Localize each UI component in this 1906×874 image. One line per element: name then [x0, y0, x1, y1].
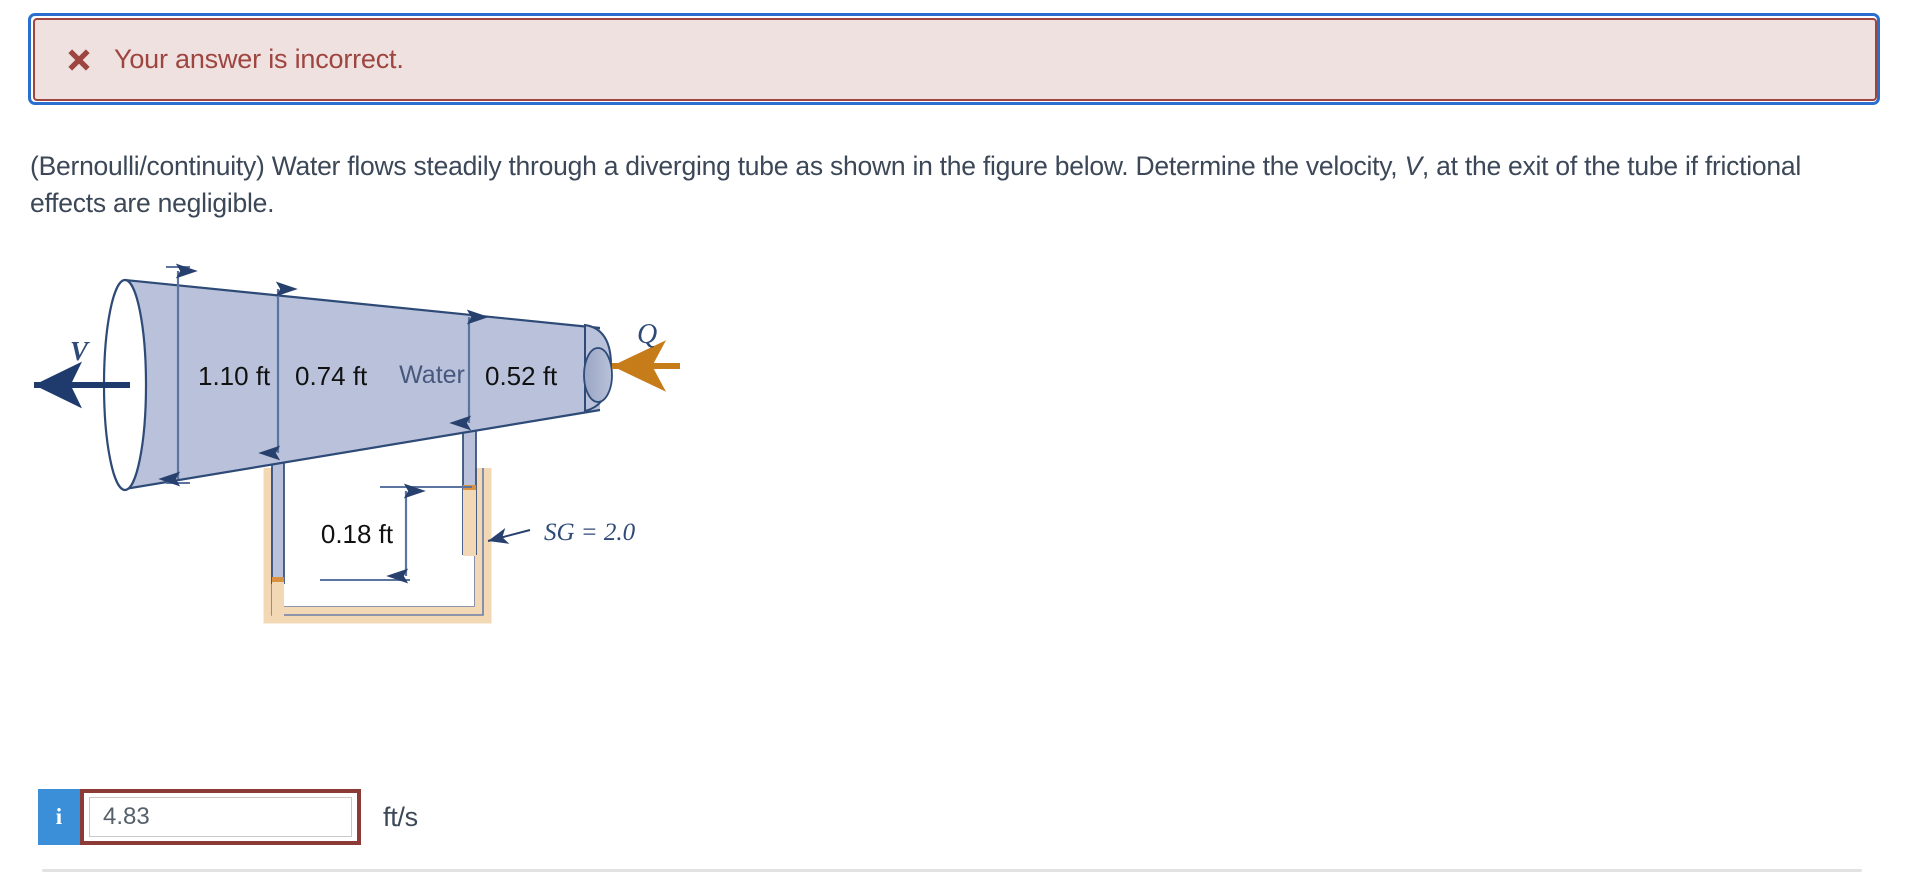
answer-units-label: ft/s — [383, 802, 418, 833]
info-icon-label: i — [56, 804, 62, 830]
info-icon[interactable]: i — [38, 789, 80, 845]
manometer-right-leg-heavy-fluid — [463, 490, 476, 556]
question-text: (Bernoulli/continuity) Water flows stead… — [30, 148, 1870, 221]
dim-exit-label: 1.10 ft — [198, 361, 271, 391]
diverging-tube-figure: Water V Q 1.10 ft 0.74 ft 0.52 ft 0.18 f… — [20, 255, 880, 645]
water-label: Water — [399, 361, 465, 389]
figure-svg: Water V Q 1.10 ft 0.74 ft 0.52 ft 0.18 f… — [20, 255, 880, 645]
manometer-left-leg — [272, 453, 284, 581]
dim-inlet-label: 0.52 ft — [485, 361, 558, 391]
sg-label: SG = 2.0 — [544, 519, 636, 546]
answer-input-container — [80, 789, 361, 845]
manometer-left-meniscus — [272, 577, 284, 582]
footer-divider — [42, 869, 1862, 872]
manometer-left-leg-heavy-fluid — [272, 582, 284, 616]
x-mark-icon — [62, 43, 96, 77]
inlet-flowrate-label: Q — [637, 319, 657, 350]
answer-row: i ft/s — [38, 789, 418, 845]
dim-mid-label: 0.74 ft — [295, 361, 368, 391]
answer-input[interactable] — [89, 797, 352, 837]
deflection-label: 0.18 ft — [321, 519, 394, 549]
tube-inlet-opening — [584, 348, 612, 402]
alert-message: Your answer is incorrect. — [114, 44, 404, 75]
question-symbol-v: V — [1404, 151, 1421, 181]
incorrect-answer-alert: Your answer is incorrect. — [33, 18, 1877, 101]
question-prefix: (Bernoulli/continuity) Water flows stead… — [30, 151, 1404, 181]
exit-velocity-label: V — [70, 336, 90, 366]
sg-leader-line — [488, 530, 530, 541]
